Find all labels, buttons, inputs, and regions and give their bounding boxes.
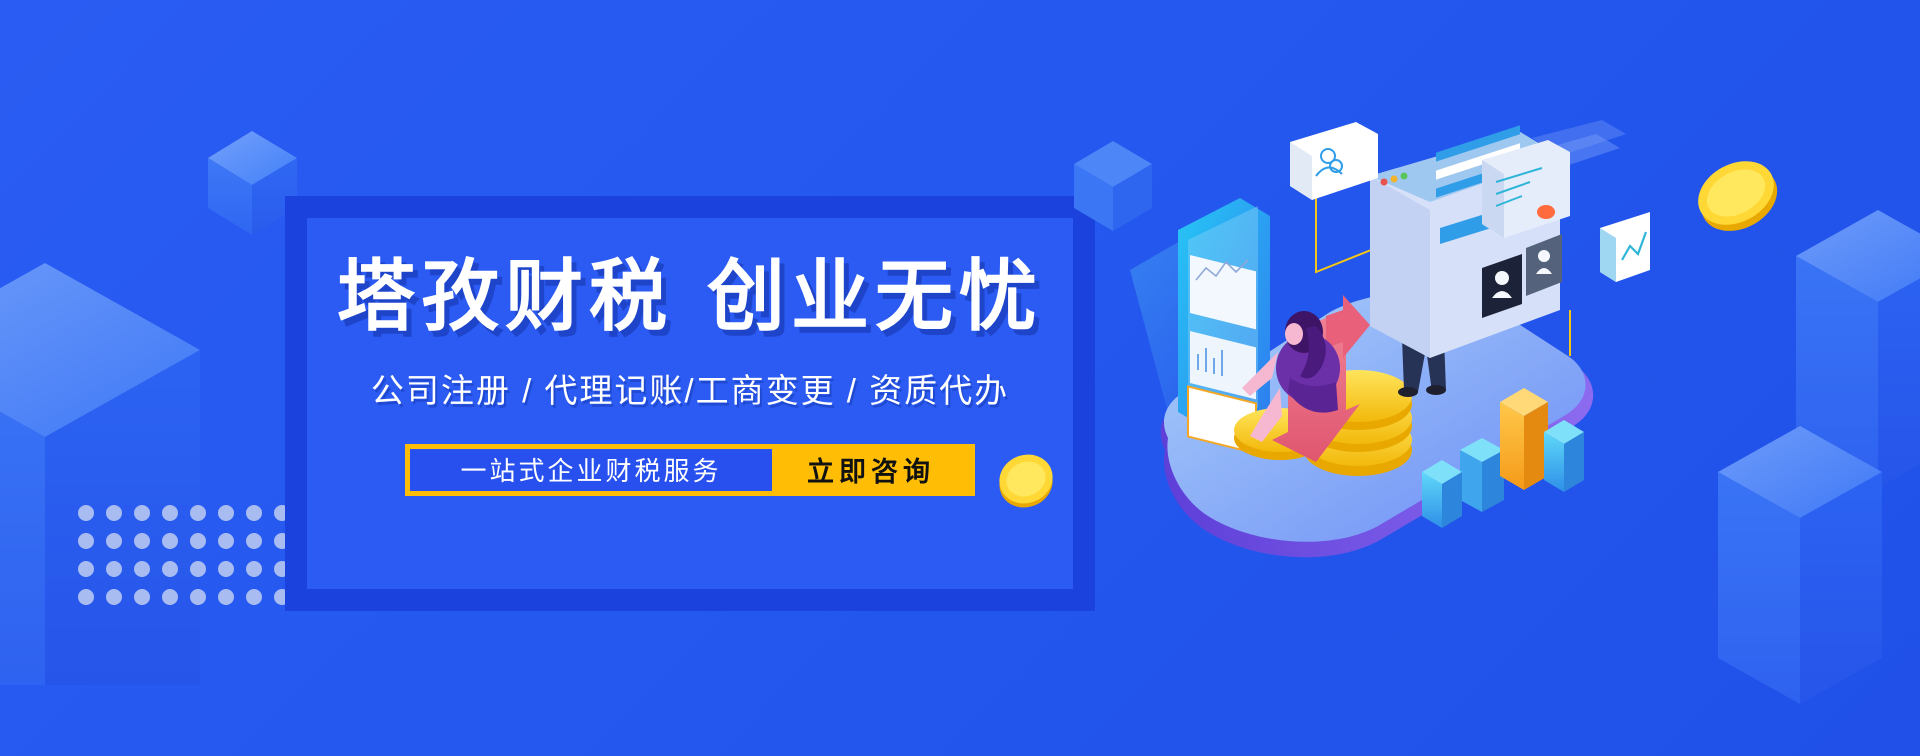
dot xyxy=(134,589,150,605)
cube-left-large xyxy=(0,255,220,685)
headline-right: 创业无忧 xyxy=(707,252,1043,340)
dot xyxy=(246,505,262,521)
dot xyxy=(162,505,178,521)
dot xyxy=(134,533,150,549)
dot xyxy=(218,589,234,605)
isometric-illustration xyxy=(1130,120,1650,580)
coin-right-float xyxy=(1686,148,1786,238)
dot xyxy=(78,561,94,577)
dot xyxy=(246,533,262,549)
dot xyxy=(162,561,178,577)
dot xyxy=(106,533,122,549)
coin-small-left xyxy=(995,452,1057,510)
dot xyxy=(190,505,206,521)
promotional-banner: 塔孜财税创业无忧 公司注册 / 代理记账/工商变更 / 资质代办 一站式企业财税… xyxy=(0,0,1920,756)
dot xyxy=(190,533,206,549)
dot xyxy=(246,589,262,605)
dot xyxy=(218,561,234,577)
dot xyxy=(78,505,94,521)
dot xyxy=(162,533,178,549)
dot xyxy=(190,561,206,577)
dot xyxy=(106,589,122,605)
dot xyxy=(218,505,234,521)
contact-card xyxy=(1290,122,1378,200)
cta-row: 一站式企业财税服务 立即咨询 xyxy=(405,444,975,496)
cube-right-tall xyxy=(1796,188,1920,488)
dot xyxy=(78,589,94,605)
page-title: 塔孜财税创业无忧 xyxy=(337,256,1043,338)
dot xyxy=(134,505,150,521)
cube-right-lower xyxy=(1718,404,1918,704)
consult-now-button[interactable]: 立即咨询 xyxy=(772,449,970,491)
services-subtitle: 公司注册 / 代理记账/工商变更 / 资质代办 xyxy=(371,364,1009,412)
dot xyxy=(134,561,150,577)
dot xyxy=(218,533,234,549)
line-chart-card xyxy=(1600,212,1650,282)
dot xyxy=(246,561,262,577)
dot-grid xyxy=(78,505,248,597)
dot xyxy=(162,589,178,605)
cta-tagline: 一站式企业财税服务 xyxy=(410,449,772,491)
dot xyxy=(106,505,122,521)
dot xyxy=(106,561,122,577)
dot xyxy=(190,589,206,605)
headline-left: 塔孜财税 xyxy=(337,252,673,340)
dot xyxy=(78,533,94,549)
headline-frame-inner: 塔孜财税创业无忧 公司注册 / 代理记账/工商变更 / 资质代办 一站式企业财税… xyxy=(307,218,1073,589)
headline-frame: 塔孜财税创业无忧 公司注册 / 代理记账/工商变更 / 资质代办 一站式企业财税… xyxy=(285,196,1095,611)
